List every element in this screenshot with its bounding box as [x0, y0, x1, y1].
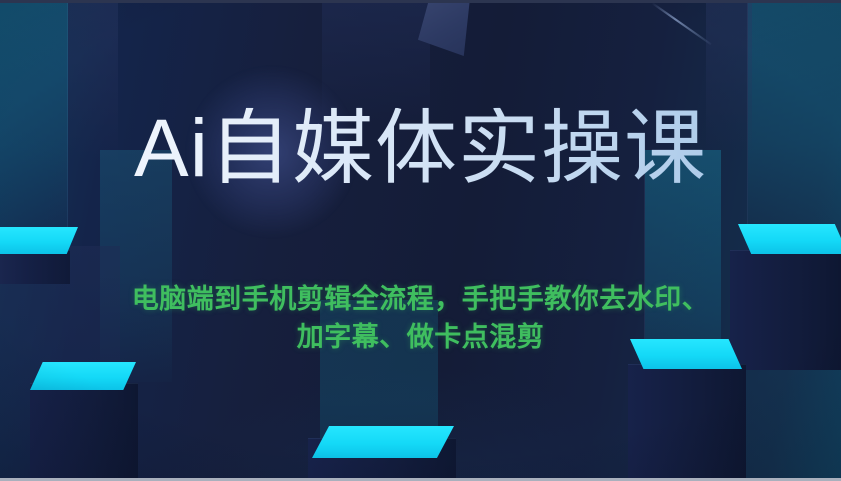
subtitle-line-1: 电脑端到手机剪辑全流程，手把手教你去水印、 [76, 280, 766, 318]
subtitle-line-2: 加字幕、做卡点混剪 [76, 318, 766, 356]
page-subtitle: 电脑端到手机剪辑全流程，手把手教你去水印、 加字幕、做卡点混剪 [76, 280, 766, 357]
frame-top-border [0, 0, 841, 3]
vignette-overlay [0, 0, 841, 481]
page-title: Ai自媒体实操课 [0, 108, 841, 190]
course-poster: Ai自媒体实操课 电脑端到手机剪辑全流程，手把手教你去水印、 加字幕、做卡点混剪 [0, 0, 841, 481]
